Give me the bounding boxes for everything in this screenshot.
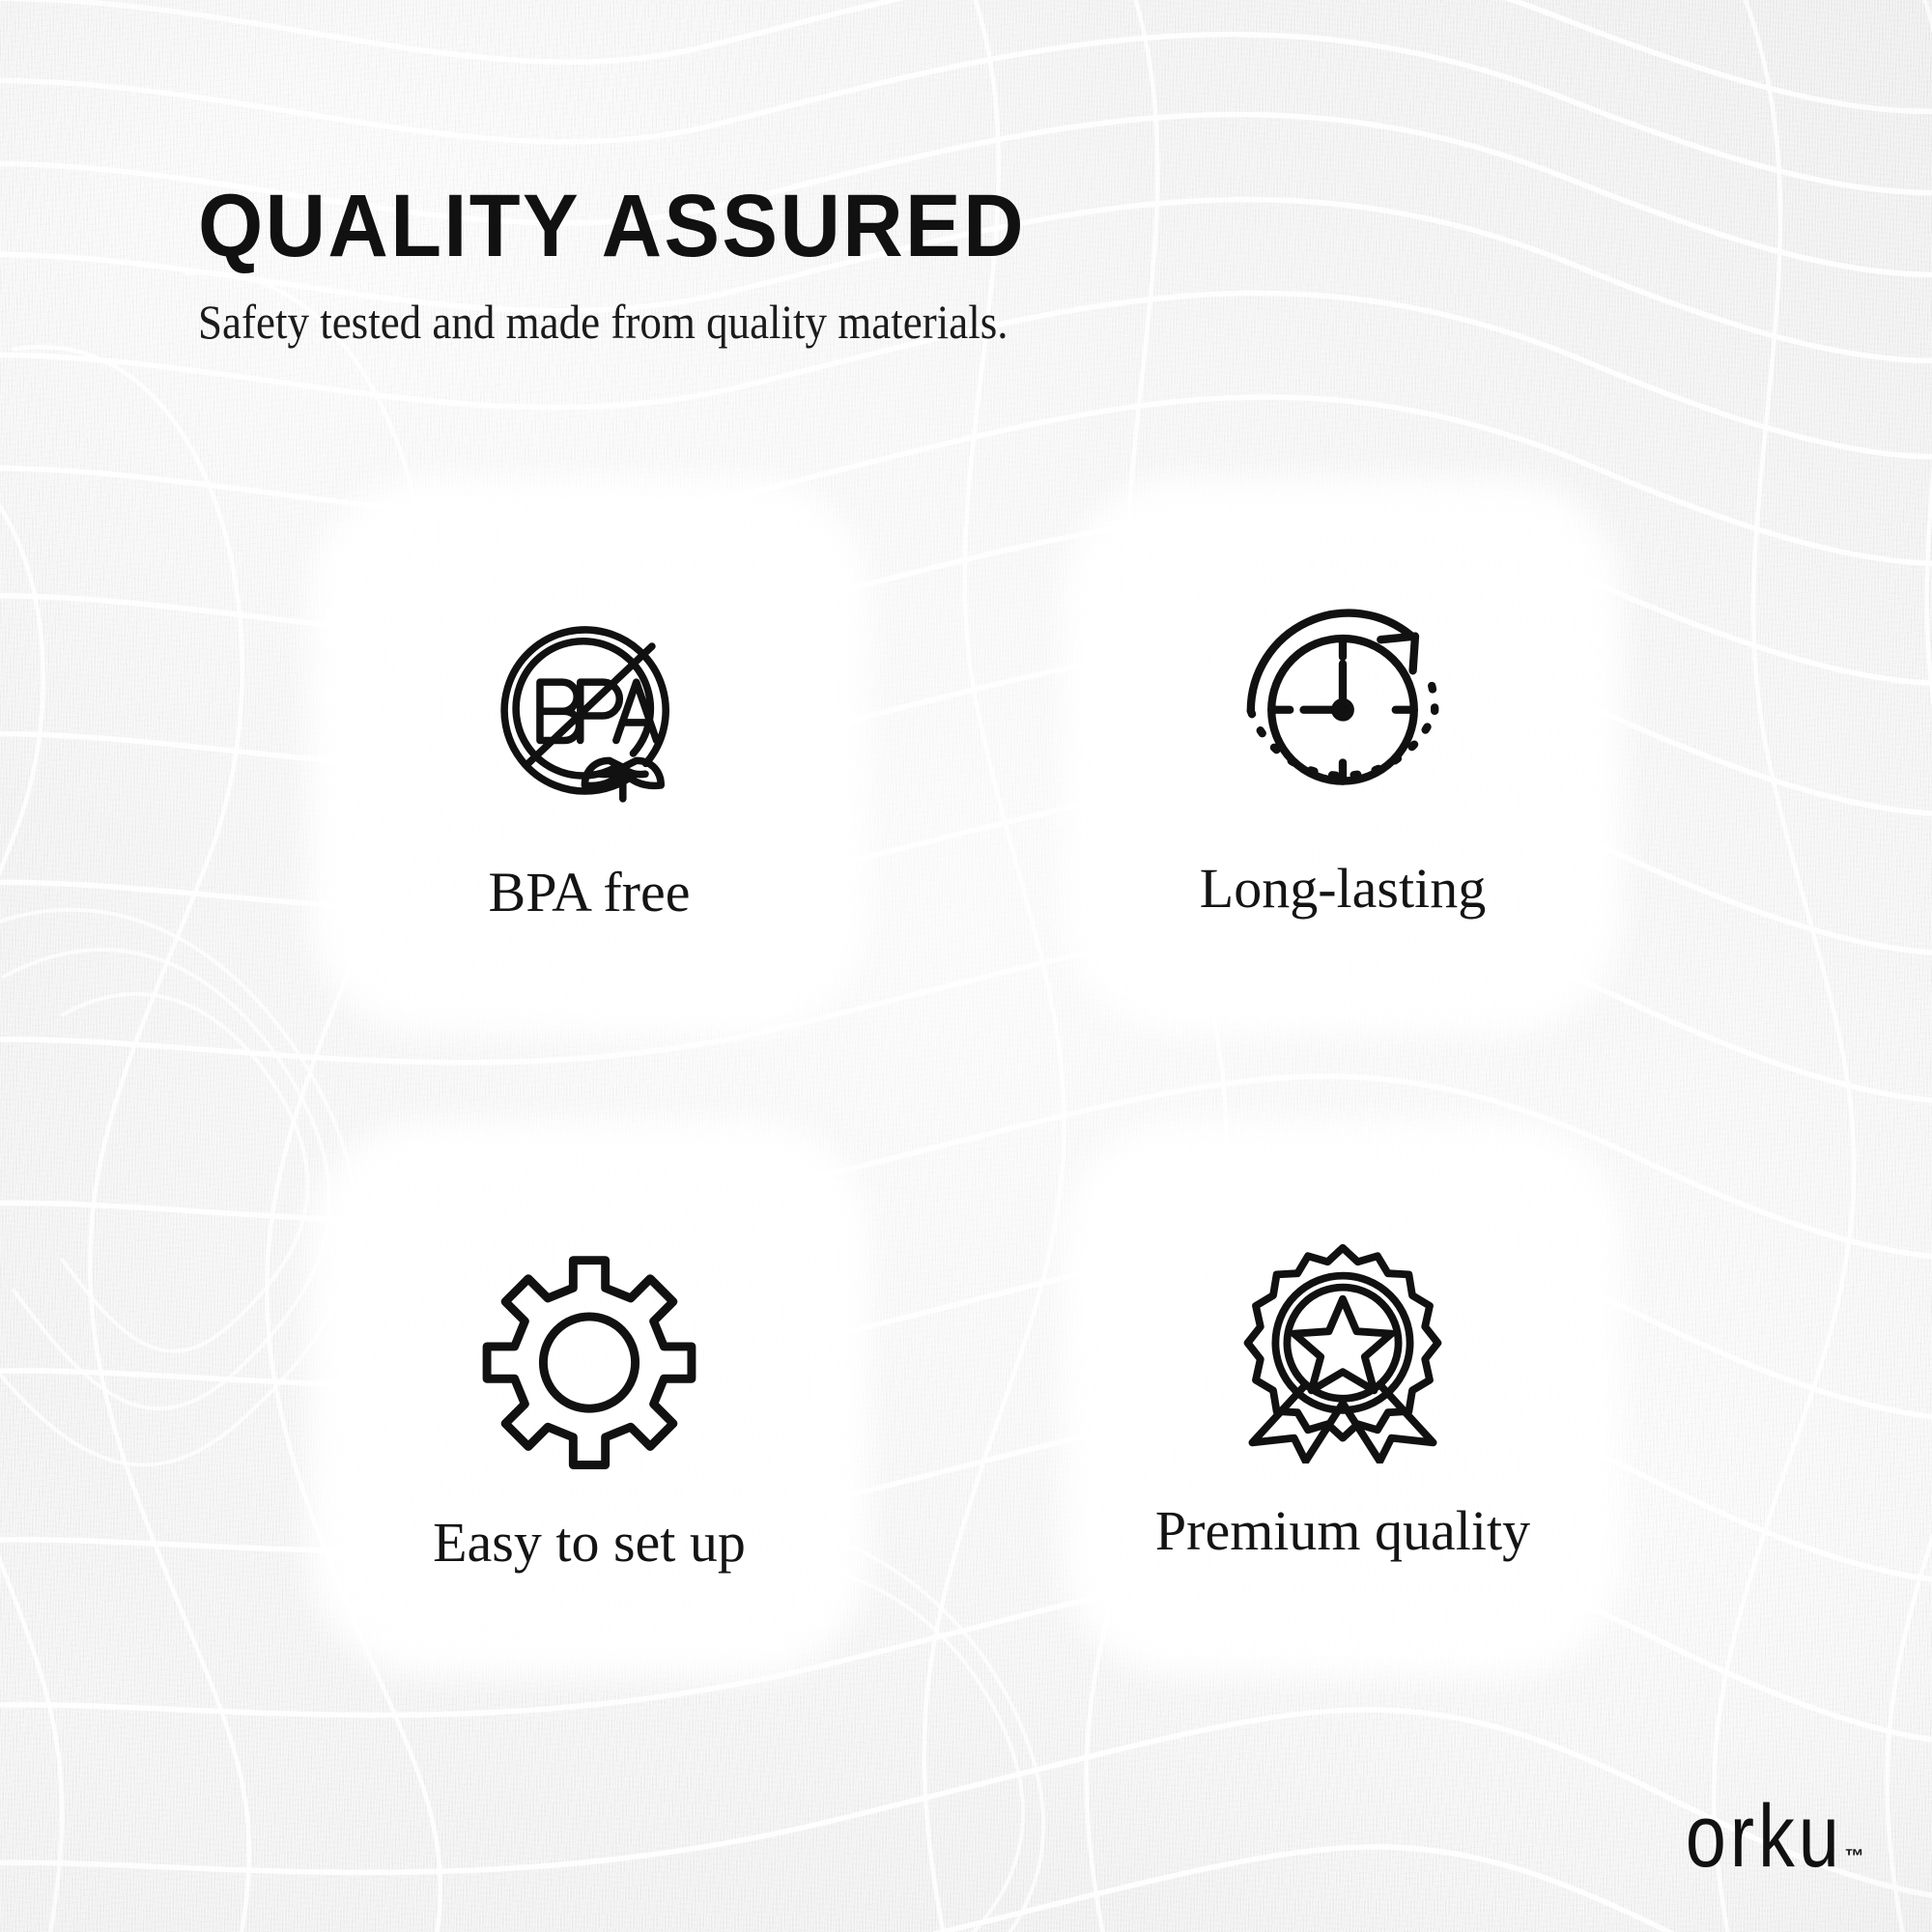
clock-rotate-icon <box>1217 580 1468 831</box>
feature-card-bpa-free[interactable]: BPA free <box>314 483 865 1029</box>
brand-logo: orku ™ <box>1651 1798 1864 1876</box>
header: QUALITY ASSURED Safety tested and made f… <box>198 182 1647 349</box>
feature-label: Premium quality <box>1155 1502 1530 1561</box>
bpa-free-icon <box>464 583 715 835</box>
feature-card-easy-to-set-up[interactable]: Easy to set up <box>314 1125 865 1671</box>
quality-assured-infographic: QUALITY ASSURED Safety tested and made f… <box>0 0 1932 1932</box>
feature-label: Easy to set up <box>433 1514 746 1573</box>
award-rosette-icon <box>1217 1222 1468 1473</box>
trademark-symbol: ™ <box>1845 1847 1865 1866</box>
feature-grid: BPA free <box>314 483 1618 1671</box>
page-title: QUALITY ASSURED <box>198 182 1560 270</box>
page-subtitle: Safety tested and made from quality mate… <box>198 296 1502 349</box>
feature-label: BPA free <box>489 864 691 923</box>
feature-card-long-lasting[interactable]: Long-lasting <box>1067 483 1618 1029</box>
brand-wordmark: orku <box>1685 1798 1842 1876</box>
feature-label: Long-lasting <box>1200 860 1486 919</box>
feature-card-premium-quality[interactable]: Premium quality <box>1067 1125 1618 1671</box>
gear-icon <box>464 1234 715 1485</box>
